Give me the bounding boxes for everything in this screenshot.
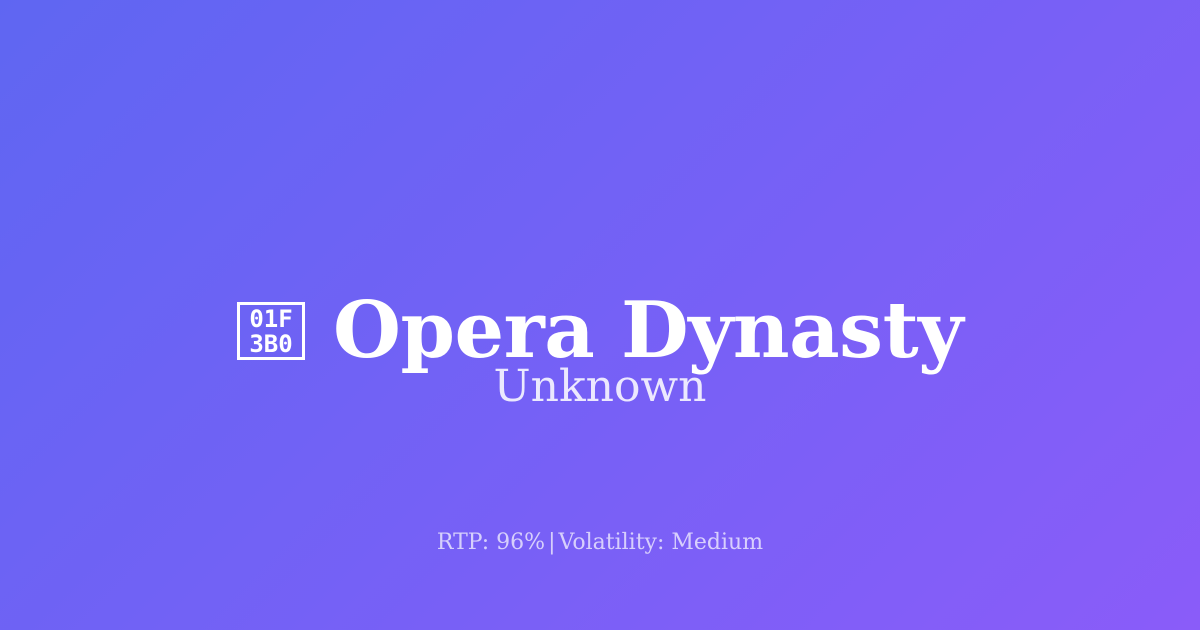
meta-separator: | xyxy=(545,530,558,555)
slot-machine-icon: 01F 3B0 xyxy=(237,302,305,360)
game-meta-line: RTP: 96%|Volatility: Medium xyxy=(0,528,1200,558)
game-promo-card: 01F 3B0 Opera Dynasty Unknown RTP: 96%|V… xyxy=(0,0,1200,630)
volatility-label: Volatility: Medium xyxy=(559,530,764,555)
tofu-codepoint-line-1: 01F xyxy=(249,307,292,332)
rtp-label: RTP: 96% xyxy=(437,530,545,555)
tofu-codepoint-line-2: 3B0 xyxy=(249,332,292,357)
game-provider-subtitle: Unknown xyxy=(0,358,1200,416)
